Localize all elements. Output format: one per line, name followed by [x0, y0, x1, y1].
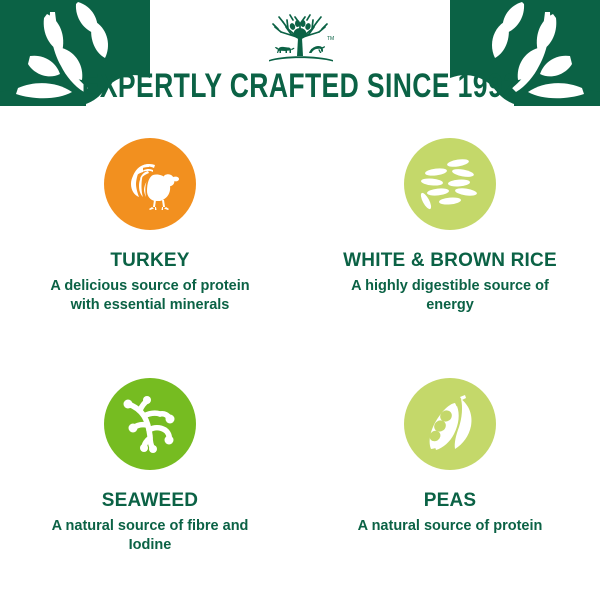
tree-paw-dogs-logo: TM: [257, 12, 343, 68]
peas-icon-circle: [404, 378, 496, 470]
seaweed-icon-circle: [104, 378, 196, 470]
ingredient-card-peas: PEAS A natural source of protein: [300, 365, 600, 600]
seaweed-icon: [120, 394, 180, 454]
ingredient-benefits-infographic: TM EXPERTLY CRAFTED SINCE 1992: [0, 0, 600, 600]
turkey-icon-circle: [104, 138, 196, 230]
ingredient-description: A natural source of protein: [358, 517, 543, 536]
ingredient-title: SEAWEED: [102, 490, 198, 512]
ingredient-title: PEAS: [424, 490, 477, 512]
ingredient-description: A highly digestible source of energy: [350, 277, 550, 315]
header: TM EXPERTLY CRAFTED SINCE 1992: [0, 0, 600, 118]
turkey-icon: [119, 153, 181, 215]
ingredient-title: TURKEY: [110, 250, 189, 272]
peas-pod-icon: [421, 393, 479, 455]
ingredient-card-seaweed: SEAWEED A natural source of fibre and Io…: [0, 365, 300, 600]
ingredient-description: A natural source of fibre and Iodine: [50, 517, 250, 555]
ingredient-description: A delicious source of protein with essen…: [50, 277, 250, 315]
svg-text:TM: TM: [327, 36, 334, 42]
ingredient-title: WHITE & BROWN RICE: [343, 250, 557, 272]
rice-icon-circle: [404, 138, 496, 230]
rice-grains-icon: [418, 155, 482, 213]
page-headline: EXPERTLY CRAFTED SINCE 1992: [66, 66, 534, 106]
ingredient-card-rice: WHITE & BROWN RICE A highly digestible s…: [300, 125, 600, 365]
ingredient-card-turkey: TURKEY A delicious source of protein wit…: [0, 125, 300, 365]
ingredient-grid: TURKEY A delicious source of protein wit…: [0, 125, 600, 600]
